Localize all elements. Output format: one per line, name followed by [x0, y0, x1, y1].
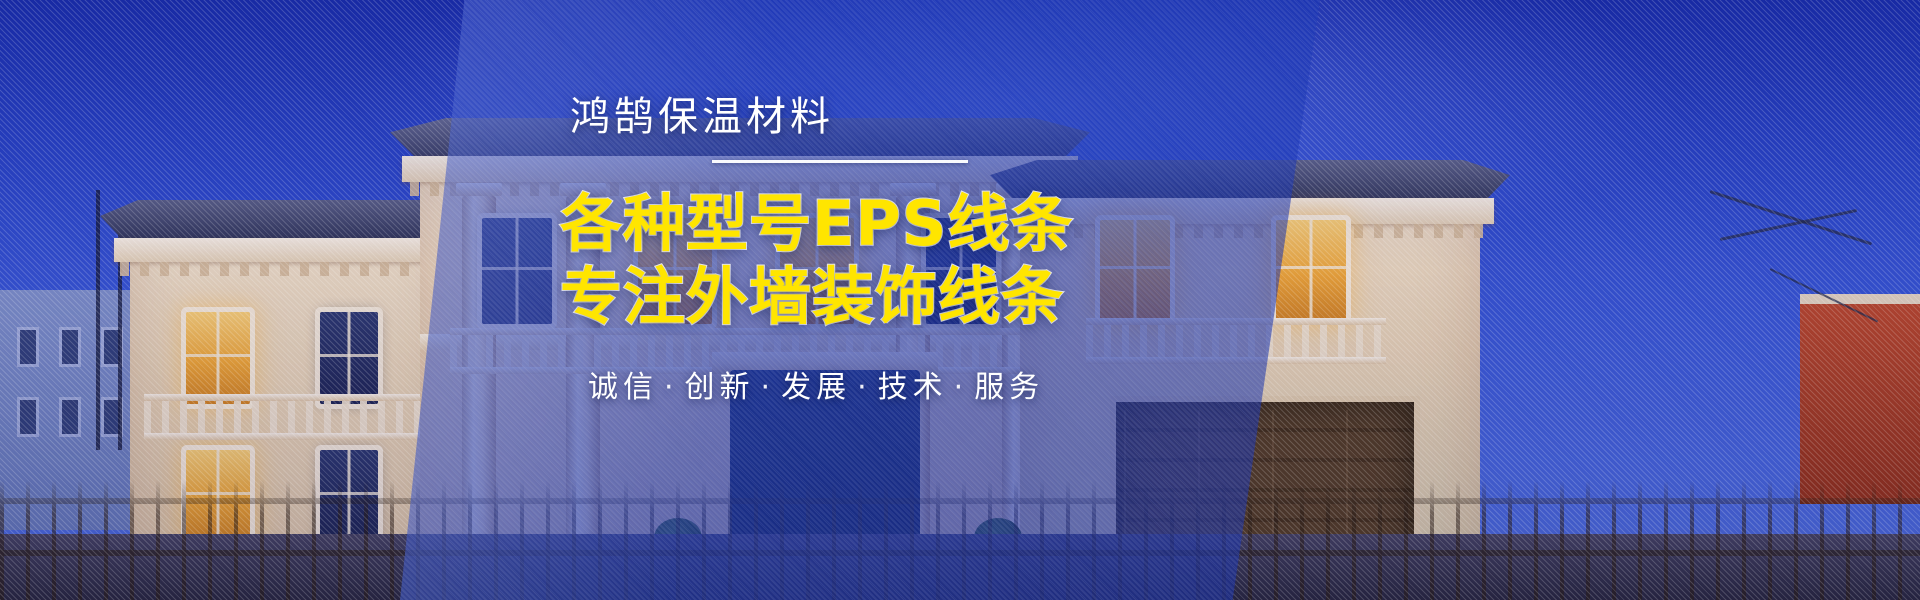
headline: 各种型号EPS线条 专注外墙装饰线条 [560, 189, 1320, 332]
tagline: 诚信·创新·发展·技术·服务 [588, 362, 1320, 406]
tagline-separator: · [664, 370, 679, 405]
brand-name: 鸿鹄保温材料 [570, 96, 1320, 138]
tagline-item: 技术 [878, 370, 948, 405]
banner-copy: 鸿鹄保温材料 各种型号EPS线条 专注外墙装饰线条 诚信·创新·发展·技术·服务 [560, 96, 1320, 406]
headline-line-2: 专注外墙装饰线条 [560, 262, 1320, 331]
hero-banner: 鸿鹄保温材料 各种型号EPS线条 专注外墙装饰线条 诚信·创新·发展·技术·服务 [0, 0, 1920, 600]
tagline-separator: · [761, 370, 776, 405]
tagline-item: 服务 [974, 370, 1044, 405]
tagline-item: 诚信 [588, 370, 658, 405]
tagline-separator: · [857, 370, 872, 405]
tagline-separator: · [954, 370, 969, 405]
headline-line-1: 各种型号EPS线条 [560, 189, 1320, 258]
divider-rule [712, 160, 968, 163]
tagline-item: 创新 [685, 370, 755, 405]
tagline-item: 发展 [781, 370, 851, 405]
